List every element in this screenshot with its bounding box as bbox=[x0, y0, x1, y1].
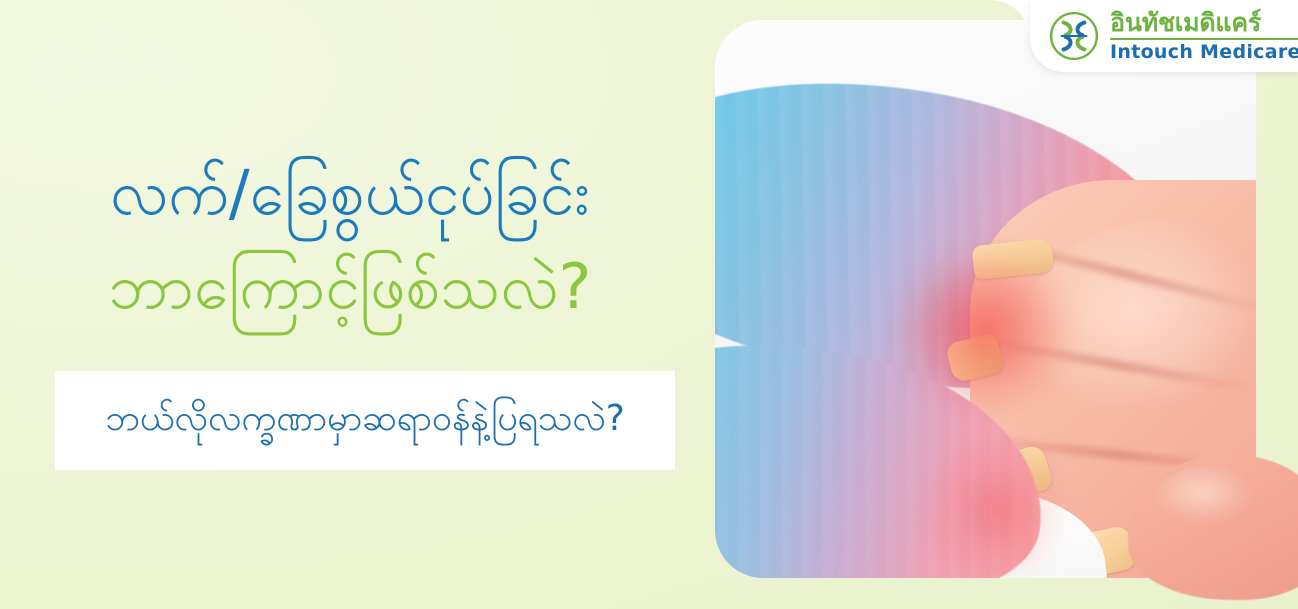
logo-badge-tail bbox=[990, 0, 1030, 40]
subline-text: ဘယ်လိုလက္ခဏာမှာဆရာဝန်နဲ့ပြရသလဲ? bbox=[55, 371, 675, 470]
logo-thai-name: อินทัชเมดิแคร์ bbox=[1110, 10, 1298, 35]
logo-wordmark: อินทัชเมดิแคร์ Intouch Medicare bbox=[1110, 10, 1298, 62]
logo-badge[interactable]: อินทัชเมดิแคร์ Intouch Medicare bbox=[1030, 0, 1298, 72]
logo-divider bbox=[1110, 38, 1298, 40]
promo-banner: လက်/ခြေစွယ်ငုပ်ခြင်း ဘာကြောင့်ဖြစ်သလဲ? ဘ… bbox=[0, 0, 1298, 609]
headline-column: လက်/ခြေစွယ်ငုပ်ခြင်း ဘာကြောင့်ဖြစ်သလဲ? ဘ… bbox=[0, 0, 710, 609]
headline-line-1: လက်/ခြေစွယ်ငုပ်ခြင်း bbox=[0, 158, 700, 227]
logo-english-name: Intouch Medicare bbox=[1110, 43, 1298, 62]
headline-line-2: ဘာကြောင့်ဖြစ်သလဲ? bbox=[0, 252, 700, 321]
toe-overflow-highlight bbox=[1150, 465, 1280, 545]
intouch-medicare-logo-icon bbox=[1048, 10, 1100, 62]
